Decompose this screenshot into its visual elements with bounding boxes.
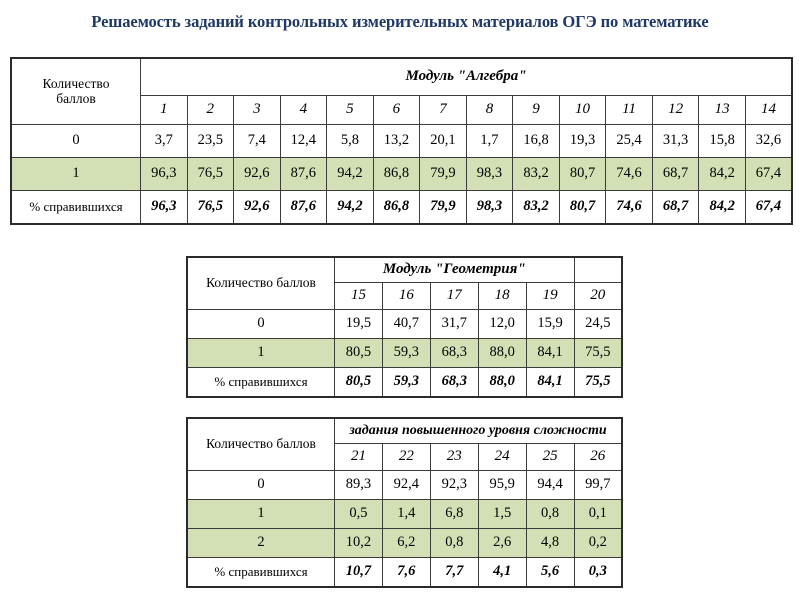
table-row: 196,376,592,687,694,286,879,998,383,280,… <box>11 158 792 191</box>
data-cell: 0,2 <box>574 529 622 558</box>
task-number-3: 3 <box>234 96 281 125</box>
data-cell: 98,3 <box>466 158 513 191</box>
score-label: 2 <box>187 529 335 558</box>
table-geometry-body: Количество балловМодуль "Геометрия"15161… <box>187 257 622 397</box>
module-title-header: Модуль "Алгебра" <box>141 58 793 96</box>
data-cell: 84,2 <box>699 158 746 191</box>
summary-label: % справившихся <box>187 368 335 398</box>
summary-cell: 80,5 <box>335 368 383 398</box>
summary-cell: 98,3 <box>466 191 513 225</box>
task-number-17: 17 <box>430 283 478 310</box>
data-cell: 10,2 <box>335 529 383 558</box>
data-cell: 0,5 <box>335 500 383 529</box>
table-header-row-module: КоличествобалловМодуль "Алгебра" <box>11 58 792 96</box>
data-cell: 94,4 <box>526 471 574 500</box>
data-cell: 12,0 <box>478 310 526 339</box>
row-label-header: Количество баллов <box>187 257 335 310</box>
summary-cell: 88,0 <box>478 368 526 398</box>
summary-cell: 7,7 <box>430 558 478 588</box>
task-number-18: 18 <box>478 283 526 310</box>
summary-cell: 68,3 <box>430 368 478 398</box>
data-cell: 95,9 <box>478 471 526 500</box>
data-cell: 2,6 <box>478 529 526 558</box>
task-number-5: 5 <box>327 96 374 125</box>
data-cell: 5,8 <box>327 125 374 158</box>
data-cell: 75,5 <box>574 339 622 368</box>
data-cell: 94,2 <box>327 158 374 191</box>
data-cell: 92,4 <box>382 471 430 500</box>
table-algebra-body: КоличествобалловМодуль "Алгебра"12345678… <box>11 58 792 224</box>
data-cell: 7,4 <box>234 125 281 158</box>
summary-cell: 10,7 <box>335 558 383 588</box>
data-cell: 1,7 <box>466 125 513 158</box>
summary-cell: 7,6 <box>382 558 430 588</box>
table-row: 10,51,46,81,50,80,1 <box>187 500 622 529</box>
data-cell: 31,7 <box>430 310 478 339</box>
summary-cell: 84,1 <box>526 368 574 398</box>
data-cell: 19,3 <box>559 125 606 158</box>
data-cell: 89,3 <box>335 471 383 500</box>
table-header-row-module: Количество балловзадания повышенного уро… <box>187 418 622 444</box>
task-number-23: 23 <box>430 444 478 471</box>
row-label-header: Количество баллов <box>187 418 335 471</box>
data-cell: 99,7 <box>574 471 622 500</box>
data-cell: 20,1 <box>420 125 467 158</box>
summary-cell: 80,7 <box>559 191 606 225</box>
table-geometry: Количество балловМодуль "Геометрия"15161… <box>186 256 623 398</box>
data-cell: 86,8 <box>373 158 420 191</box>
task-number-11: 11 <box>606 96 653 125</box>
task-number-24: 24 <box>478 444 526 471</box>
summary-cell: 0,3 <box>574 558 622 588</box>
data-cell: 92,3 <box>430 471 478 500</box>
data-cell: 0,1 <box>574 500 622 529</box>
table-advanced: Количество балловзадания повышенного уро… <box>186 417 623 588</box>
data-cell: 6,8 <box>430 500 478 529</box>
data-cell: 13,2 <box>373 125 420 158</box>
score-label: 1 <box>187 500 335 529</box>
summary-cell: 84,2 <box>699 191 746 225</box>
task-number-14: 14 <box>745 96 792 125</box>
data-cell: 4,8 <box>526 529 574 558</box>
data-cell: 12,4 <box>280 125 327 158</box>
data-cell: 68,7 <box>652 158 699 191</box>
document-page: Решаемость заданий контрольных измерител… <box>0 0 800 600</box>
table-summary-row: % справившихся10,77,67,74,15,60,3 <box>187 558 622 588</box>
task-number-26: 26 <box>574 444 622 471</box>
score-label: 1 <box>11 158 141 191</box>
summary-cell: 92,6 <box>234 191 281 225</box>
data-cell: 88,0 <box>478 339 526 368</box>
summary-cell: 4,1 <box>478 558 526 588</box>
task-number-22: 22 <box>382 444 430 471</box>
data-cell: 87,6 <box>280 158 327 191</box>
table-row: 019,540,731,712,015,924,5 <box>187 310 622 339</box>
data-cell: 3,7 <box>141 125 188 158</box>
summary-cell: 83,2 <box>513 191 560 225</box>
score-label: 0 <box>11 125 141 158</box>
data-cell: 80,7 <box>559 158 606 191</box>
data-cell: 24,5 <box>574 310 622 339</box>
task-number-4: 4 <box>280 96 327 125</box>
module-title-header: Модуль "Геометрия" <box>335 257 575 283</box>
score-label: 1 <box>187 339 335 368</box>
row-label-header: Количествобаллов <box>11 58 141 125</box>
data-cell: 25,4 <box>606 125 653 158</box>
task-number-9: 9 <box>513 96 560 125</box>
task-number-25: 25 <box>526 444 574 471</box>
summary-cell: 74,6 <box>606 191 653 225</box>
summary-cell: 87,6 <box>280 191 327 225</box>
data-cell: 59,3 <box>382 339 430 368</box>
data-cell: 23,5 <box>187 125 234 158</box>
task-number-2: 2 <box>187 96 234 125</box>
task-number-15: 15 <box>335 283 383 310</box>
data-cell: 1,4 <box>382 500 430 529</box>
table-summary-row: % справившихся80,559,368,388,084,175,5 <box>187 368 622 398</box>
data-cell: 15,9 <box>526 310 574 339</box>
data-cell: 96,3 <box>141 158 188 191</box>
table-row: 180,559,368,388,084,175,5 <box>187 339 622 368</box>
data-cell: 32,6 <box>745 125 792 158</box>
data-cell: 0,8 <box>430 529 478 558</box>
task-number-12: 12 <box>652 96 699 125</box>
task-number-1: 1 <box>141 96 188 125</box>
page-title: Решаемость заданий контрольных измерител… <box>8 12 792 32</box>
data-cell: 6,2 <box>382 529 430 558</box>
task-number-7: 7 <box>420 96 467 125</box>
task-number-8: 8 <box>466 96 513 125</box>
data-cell: 67,4 <box>745 158 792 191</box>
summary-cell: 5,6 <box>526 558 574 588</box>
table-advanced-body: Количество балловзадания повышенного уро… <box>187 418 622 587</box>
summary-label: % справившихся <box>11 191 141 225</box>
summary-cell: 86,8 <box>373 191 420 225</box>
data-cell: 68,3 <box>430 339 478 368</box>
summary-cell: 68,7 <box>652 191 699 225</box>
task-number-19: 19 <box>526 283 574 310</box>
task-number-20: 20 <box>574 283 622 310</box>
data-cell: 1,5 <box>478 500 526 529</box>
table-header-row-module: Количество балловМодуль "Геометрия" <box>187 257 622 283</box>
data-cell: 19,5 <box>335 310 383 339</box>
data-cell: 83,2 <box>513 158 560 191</box>
module-title-spacer <box>574 257 622 283</box>
table-row: 210,26,20,82,64,80,2 <box>187 529 622 558</box>
table-row: 03,723,57,412,45,813,220,11,716,819,325,… <box>11 125 792 158</box>
score-label: 0 <box>187 471 335 500</box>
data-cell: 40,7 <box>382 310 430 339</box>
module-title-header: задания повышенного уровня сложности <box>335 418 623 444</box>
summary-cell: 79,9 <box>420 191 467 225</box>
summary-cell: 59,3 <box>382 368 430 398</box>
summary-cell: 75,5 <box>574 368 622 398</box>
table-algebra: КоличествобалловМодуль "Алгебра"12345678… <box>10 57 793 225</box>
summary-cell: 96,3 <box>141 191 188 225</box>
data-cell: 84,1 <box>526 339 574 368</box>
task-number-21: 21 <box>335 444 383 471</box>
data-cell: 92,6 <box>234 158 281 191</box>
task-number-6: 6 <box>373 96 420 125</box>
data-cell: 74,6 <box>606 158 653 191</box>
table-row: 089,392,492,395,994,499,7 <box>187 471 622 500</box>
task-number-16: 16 <box>382 283 430 310</box>
table-summary-row: % справившихся96,376,592,687,694,286,879… <box>11 191 792 225</box>
summary-label: % справившихся <box>187 558 335 588</box>
data-cell: 16,8 <box>513 125 560 158</box>
data-cell: 31,3 <box>652 125 699 158</box>
data-cell: 0,8 <box>526 500 574 529</box>
summary-cell: 76,5 <box>187 191 234 225</box>
task-number-10: 10 <box>559 96 606 125</box>
data-cell: 80,5 <box>335 339 383 368</box>
data-cell: 76,5 <box>187 158 234 191</box>
task-number-13: 13 <box>699 96 746 125</box>
summary-cell: 67,4 <box>745 191 792 225</box>
summary-cell: 94,2 <box>327 191 374 225</box>
score-label: 0 <box>187 310 335 339</box>
data-cell: 79,9 <box>420 158 467 191</box>
data-cell: 15,8 <box>699 125 746 158</box>
